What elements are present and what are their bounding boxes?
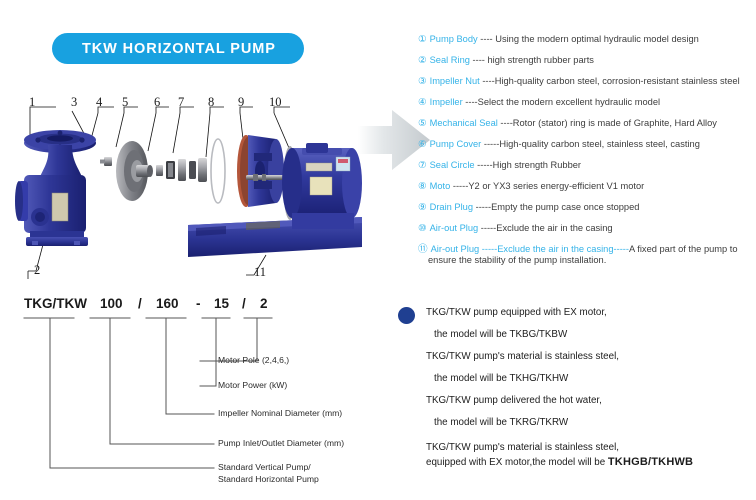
note-line-1: TKG/TKW pump equipped with EX motor, [426,302,756,324]
legend-item-5: ⑤Mechanical Seal ----Rotor (stator) ring… [418,118,756,139]
legend-item-7: ⑦Seal Circle -----High strength Rubber [418,160,756,181]
pump-cover-part [237,135,284,207]
model-label-inlet-outlet-diameter-text: Pump Inlet/Outlet Diameter (mm) [218,438,344,448]
legend-item-9: ⑨Drain Plug -----Empty the pump case onc… [418,202,756,223]
note-line-8: equipped with EX motor,the model will be… [426,455,756,470]
callout-7: 7 [178,95,184,110]
legend-sep-3: ---- [480,76,495,86]
page-title: TKW HORIZONTAL PUMP [52,41,276,57]
model-label-impeller-diameter-text: Impeller Nominal Diameter (mm) [218,408,342,418]
legend-desc-4: Select the modern excellent hydraulic mo… [478,97,660,107]
model-label-standard-pump-line1: Standard Vertical Pump/ [218,462,319,474]
legend-part-7: Seal Circle [430,160,475,170]
legend-part-5: Mechanical Seal [430,118,498,128]
legend-item-2: ②Seal Ring ---- high strength rubber par… [418,55,756,76]
note-line-3: TKG/TKW pump's material is stainless ste… [426,346,756,368]
legend-number-2: ② [418,55,427,66]
bullet-dot-icon [398,307,415,324]
legend-item-6: ⑥Pump Cover -----High-quality carbon ste… [418,139,756,160]
model-label-motor-power: Motor Power (kW) [218,380,287,392]
legend-item-4: ④Impeller ----Select the modern excellen… [418,97,756,118]
legend-desc-11-line2: ensure the stability of the pump install… [428,255,756,266]
legend-number-8: ⑧ [418,181,427,192]
legend-sep-5: ---- [498,118,513,128]
model-label-inlet-outlet-diameter: Pump Inlet/Outlet Diameter (mm) [218,438,344,450]
callout-6: 6 [154,95,160,110]
legend-desc-1: Using the modern optimal hydraulic model… [495,34,699,44]
note-line-7: TKG/TKW pump's material is stainless ste… [426,440,756,455]
legend-number-1: ① [418,34,427,45]
legend-sep-7: ----- [475,160,493,170]
legend-number-10: ⑩ [418,223,427,234]
pump-illustration [10,95,390,290]
impeller-nut-part [100,157,112,166]
legend-part-8: Moto [430,181,451,191]
legend-number-6: ⑥ [418,139,427,150]
base-plate-part [188,213,362,257]
legend-item-3: ③Impeller Nut ----High-quality carbon st… [418,76,756,97]
legend-part-10: Air-out Plug [430,223,479,233]
callout-3: 3 [71,95,77,110]
model-label-motor-power-text: Motor Power (kW) [218,380,287,390]
legend-number-9: ⑨ [418,202,427,213]
callout-1: 1 [29,95,35,110]
model-label-standard-pump: Standard Vertical Pump/ Standard Horizon… [218,462,319,485]
seal-circle-part [211,139,225,203]
pump-datasheet-page: TKW HORIZONTAL PUMP [0,0,756,500]
legend-part-1: Pump Body [430,34,478,44]
legend-sep-10: ----- [478,223,496,233]
model-label-standard-pump-line2: Standard Horizontal Pump [218,474,319,486]
legend-number-5: ⑤ [418,118,427,129]
mechanical-seal-part [156,158,207,182]
legend-desc-5: Rotor (stator) ring is made of Graphite,… [513,118,717,128]
legend-desc-8: Y2 or YX3 series energy-efficient V1 mot… [468,181,644,191]
note-line-8-pre: equipped with EX motor,the model will be [426,457,608,468]
legend-part-6: Pump Cover [430,139,482,149]
model-variant-notes: TKG/TKW pump equipped with EX motor, the… [398,302,756,470]
callout-10: 10 [269,95,282,110]
legend-part-4: Impeller [430,97,463,107]
legend-item-11: ⑪Air-out Plug -----Exclude the air in th… [418,244,756,266]
note-line-6: the model will be TKRG/TKRW [426,412,756,434]
legend-sep-2: ---- [470,55,488,65]
page-title-banner: TKW HORIZONTAL PUMP [52,33,304,64]
legend-desc-10: Exclude the air in the casing [496,223,612,233]
legend-item-10: ⑩Air-out Plug -----Exclude the air in th… [418,223,756,244]
legend-desc-11: A fixed part of the pump to [629,244,738,254]
note-line-4: the model will be TKHG/TKHW [426,368,756,390]
callout-4: 4 [96,95,102,110]
legend-sep-6: ----- [481,139,499,149]
exploded-pump-diagram: 1 3 4 5 6 7 8 9 10 2 11 [10,95,390,290]
callout-5: 5 [122,95,128,110]
model-label-motor-pole-text: Motor Pole (2,4,6,) [218,355,289,365]
note-line-5: TKG/TKW pump delivered the hot water, [426,390,756,412]
legend-desc-6: High-quality carbon steel, stainless ste… [499,139,700,149]
impeller-part [116,141,153,201]
pump-body-part [15,130,96,246]
parts-legend: ①Pump Body ---- Using the modern optimal… [418,34,756,266]
legend-sep-9: ----- [473,202,491,212]
note-line-8-model: TKHGB/TKHWB [608,456,693,468]
legend-sep-1: ---- [478,34,496,44]
legend-number-3: ③ [418,76,427,87]
legend-part-3: Impeller Nut [430,76,480,86]
model-designation-leader-lines [14,296,394,496]
legend-item-8: ⑧Moto -----Y2 or YX3 series energy-effic… [418,181,756,202]
legend-part-2: Seal Ring [430,55,470,65]
legend-part-11: Air-out Plug -----Exclude the air in the… [431,244,629,254]
legend-desc-2: high strength rubber parts [487,55,593,65]
callout-9: 9 [238,95,244,110]
model-label-motor-pole: Motor Pole (2,4,6,) [218,355,289,367]
legend-desc-3: High-quality carbon steel, corrosion-res… [495,76,740,86]
model-designation-diagram: TKG/TKW 100 / 160 - 15 / 2 [14,296,394,496]
legend-item-1: ①Pump Body ---- Using the modern optimal… [418,34,756,55]
legend-number-7: ⑦ [418,160,427,171]
callout-2: 2 [34,263,40,278]
callout-8: 8 [208,95,214,110]
callout-11: 11 [254,265,266,280]
legend-sep-8: ----- [450,181,468,191]
legend-number-4: ④ [418,97,427,108]
model-label-impeller-diameter: Impeller Nominal Diameter (mm) [218,408,342,420]
legend-sep-4: ---- [463,97,478,107]
legend-part-9: Drain Plug [430,202,473,212]
legend-desc-7: High strength Rubber [493,160,581,170]
legend-desc-9: Empty the pump case once stopped [491,202,639,212]
legend-number-11: ⑪ [418,244,428,255]
note-line-2: the model will be TKBG/TKBW [426,324,756,346]
